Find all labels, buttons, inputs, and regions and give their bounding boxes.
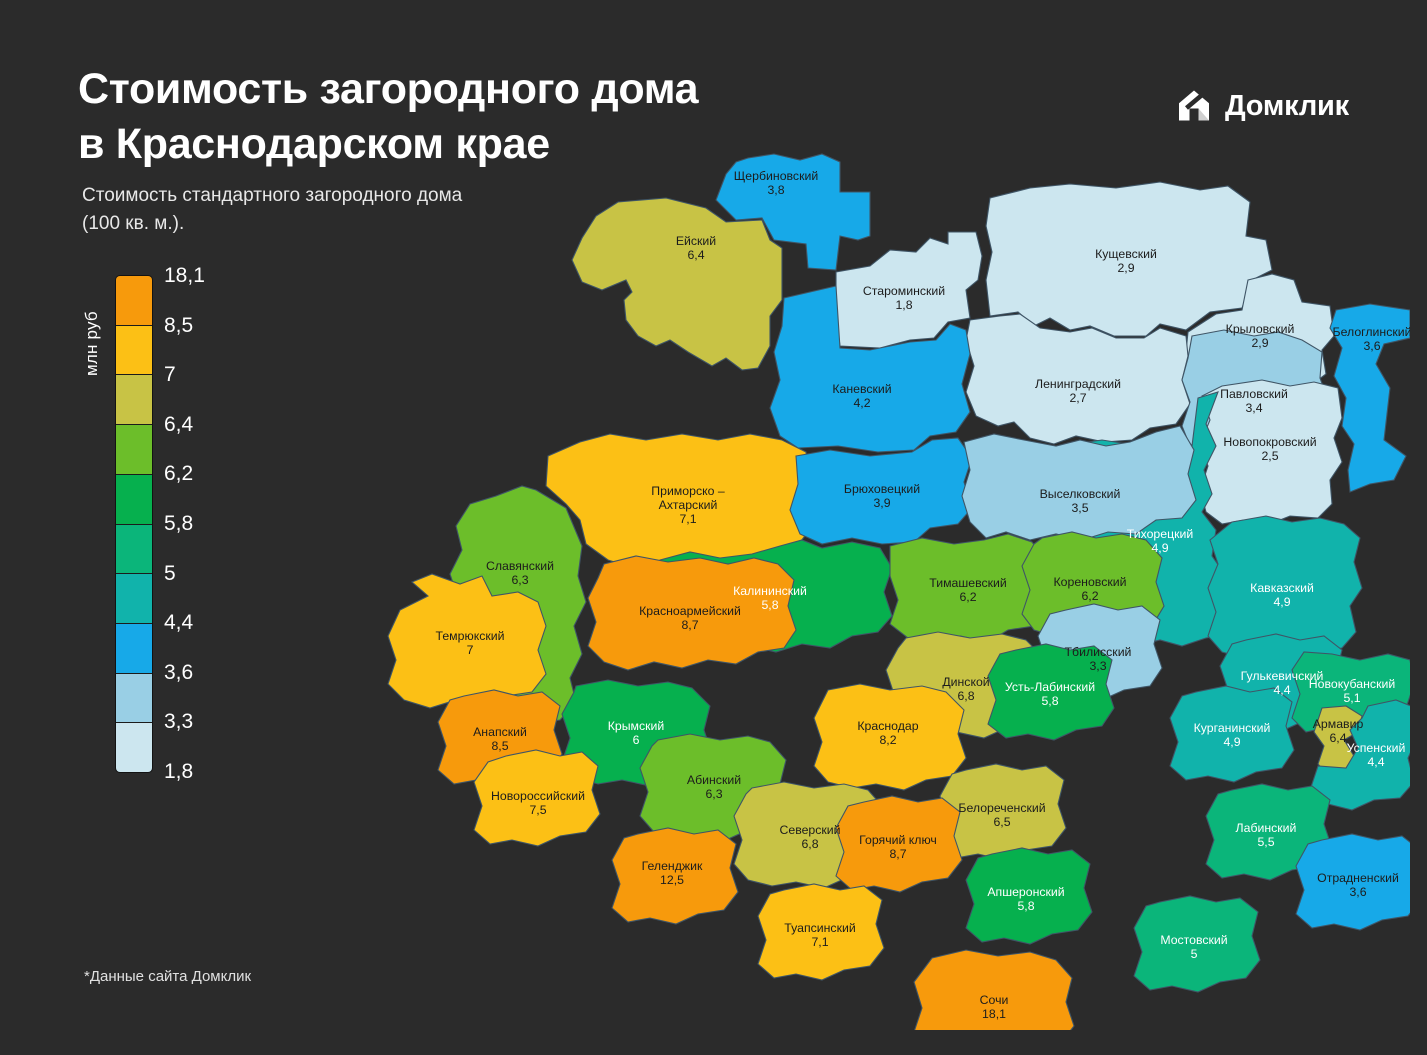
legend-tick: 7 <box>164 363 176 387</box>
map-region[interactable] <box>836 796 962 892</box>
map-region[interactable] <box>1330 304 1410 492</box>
legend-tick: 18,1 <box>164 264 205 288</box>
map-region[interactable] <box>988 644 1114 740</box>
map-region[interactable] <box>1296 834 1410 930</box>
map-region[interactable] <box>572 198 782 370</box>
legend-band-1 <box>116 326 152 376</box>
legend-tick: 3,6 <box>164 661 193 685</box>
legend-tick: 6,2 <box>164 462 193 486</box>
brand-logo-text: Домклик <box>1225 90 1349 123</box>
legend-tick: 5 <box>164 562 176 586</box>
legend-tick: 8,5 <box>164 314 193 338</box>
legend-tick: 6,4 <box>164 413 193 437</box>
legend-band-7 <box>116 624 152 674</box>
legend-color-bar <box>116 276 152 772</box>
map-region[interactable] <box>814 684 966 790</box>
map-region[interactable] <box>790 438 972 544</box>
choropleth-map[interactable]: Щербиновский3,8Ейский6,4Староминский1,8К… <box>370 140 1410 1030</box>
legend-axis-label: млн руб <box>82 268 102 376</box>
map-region[interactable] <box>474 750 600 846</box>
map-region[interactable] <box>1170 686 1294 782</box>
legend-band-9 <box>116 723 152 772</box>
map-region[interactable] <box>758 884 884 980</box>
legend-tick: 5,8 <box>164 512 193 536</box>
map-region[interactable] <box>1134 896 1260 992</box>
map-region[interactable] <box>966 314 1190 444</box>
map-region[interactable] <box>966 848 1092 944</box>
map-region[interactable] <box>890 534 1048 644</box>
legend-band-2 <box>116 375 152 425</box>
legend-band-3 <box>116 425 152 475</box>
source-footnote: *Данные сайта Домклик <box>84 968 251 985</box>
domclick-house-icon <box>1174 86 1214 126</box>
legend-tick: 1,8 <box>164 760 193 784</box>
map-region[interactable] <box>914 950 1074 1030</box>
legend: млн руб 18,18,576,46,25,854,43,63,31,8 <box>84 268 244 780</box>
page-title-line1: Стоимость загородного дома <box>78 62 838 117</box>
map-region[interactable] <box>546 434 810 568</box>
map-region[interactable] <box>1200 380 1342 524</box>
legend-band-0 <box>116 276 152 326</box>
map-svg[interactable]: Щербиновский3,8Ейский6,4Староминский1,8К… <box>370 140 1410 1030</box>
map-region[interactable] <box>388 574 546 708</box>
legend-band-5 <box>116 525 152 575</box>
map-region[interactable] <box>588 556 796 670</box>
infographic-page: Стоимость загородного дома в Краснодарск… <box>0 0 1427 1055</box>
legend-band-4 <box>116 475 152 525</box>
legend-band-8 <box>116 674 152 724</box>
legend-band-6 <box>116 574 152 624</box>
map-region[interactable] <box>612 828 738 924</box>
legend-tick-labels: 18,18,576,46,25,854,43,63,31,8 <box>164 268 244 780</box>
brand-logo: Домклик <box>1174 86 1349 126</box>
legend-tick: 4,4 <box>164 611 193 635</box>
legend-tick: 3,3 <box>164 710 193 734</box>
